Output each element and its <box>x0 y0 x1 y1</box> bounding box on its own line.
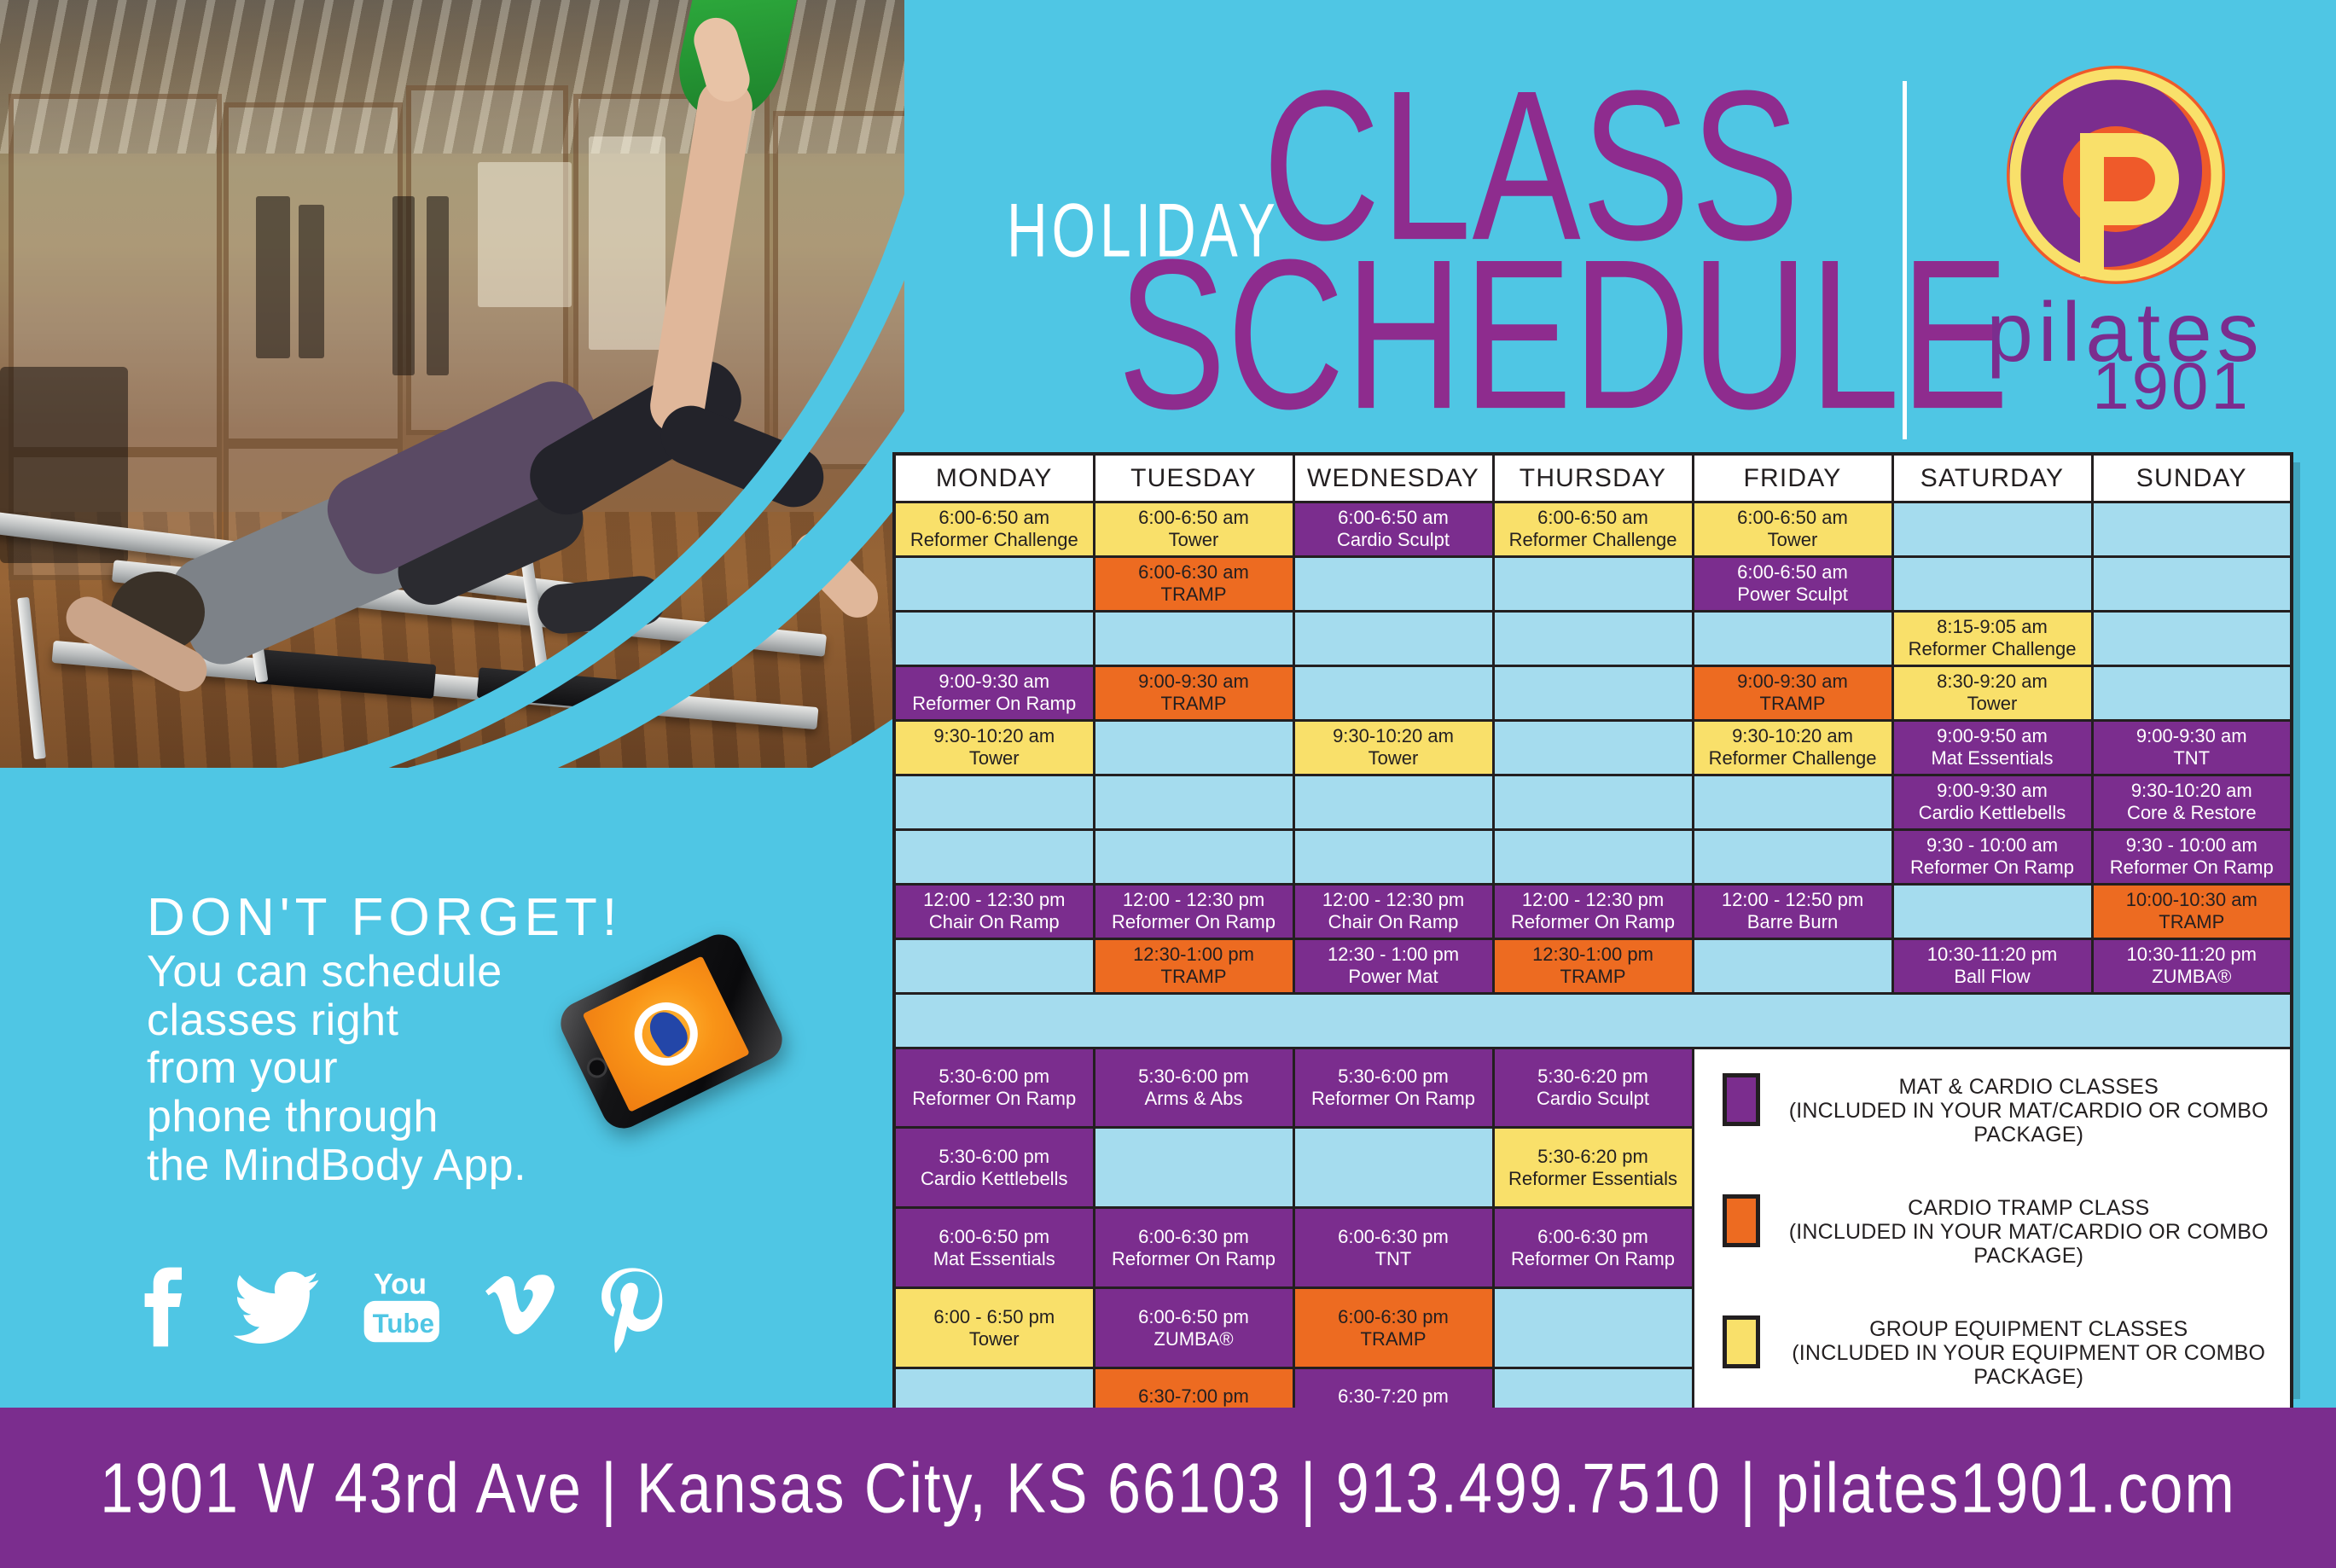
schedule-cell-empty <box>1493 611 1693 665</box>
schedule-cell-empty <box>1892 556 2092 611</box>
class-time: 5:30-6:00 pm <box>898 1066 1090 1088</box>
schedule-cell-empty <box>1493 665 1693 720</box>
class-name: Tower <box>898 1328 1090 1350</box>
schedule-cell-empty <box>894 611 1094 665</box>
legend-swatch-purple <box>1723 1073 1760 1126</box>
class-time: 9:00-9:30 am <box>1098 671 1290 693</box>
class-time: 12:30 - 1:00 pm <box>1298 944 1490 966</box>
class-name: Mat Essentials <box>1897 747 2089 769</box>
schedule-cell-class[interactable]: 9:30-10:20 amTower <box>894 720 1094 775</box>
legend-subtitle: (INCLUDED IN YOUR MAT/CARDIO OR COMBO PA… <box>1779 1099 2280 1147</box>
schedule-cell-empty <box>1293 775 1493 829</box>
class-name: Tower <box>1298 747 1490 769</box>
day-header-monday: MONDAY <box>894 454 1094 502</box>
twitter-icon[interactable] <box>234 1259 320 1355</box>
class-name: Reformer Challenge <box>1897 638 2089 660</box>
schedule-cell-class[interactable]: 6:00-6:50 amPower Sculpt <box>1693 556 1892 611</box>
class-name: Reformer On Ramp <box>2096 857 2288 879</box>
brand-logo: pilates 1901 <box>1945 38 2304 439</box>
schedule-row: 9:00-9:30 amCardio Kettlebells9:30-10:20… <box>894 775 2292 829</box>
class-time: 9:30-10:20 am <box>2096 780 2288 802</box>
schedule-cell-class[interactable]: 6:00-6:30 amTRAMP <box>1094 556 1293 611</box>
schedule-cell-class[interactable]: 6:00 - 6:50 pmTower <box>894 1288 1094 1368</box>
page-title-line2: SCHEDULE <box>1118 237 2010 433</box>
schedule-row: 5:30-6:00 pmReformer On Ramp5:30-6:00 pm… <box>894 1048 2292 1128</box>
legend-title: MAT & CARDIO CLASSES <box>1779 1075 2280 1099</box>
class-time: 6:00-6:50 pm <box>898 1226 1090 1248</box>
class-time: 6:00-6:50 am <box>1697 507 1889 529</box>
schedule-cell-class[interactable]: 5:30-6:20 pmReformer Essentials <box>1493 1128 1693 1208</box>
class-name: Reformer On Ramp <box>1098 1248 1290 1270</box>
class-time: 9:00-9:50 am <box>1897 725 2089 747</box>
class-name: TNT <box>2096 747 2288 769</box>
schedule-spacer-row <box>894 993 2292 1048</box>
legend-title: GROUP EQUIPMENT CLASSES <box>1779 1317 2280 1341</box>
schedule-cell-empty <box>1693 938 1892 993</box>
schedule-cell-class[interactable]: 6:00-6:30 pmTRAMP <box>1293 1288 1493 1368</box>
class-time: 6:00-6:30 am <box>1098 561 1290 584</box>
class-name: Tower <box>1098 529 1290 551</box>
class-time: 12:00 - 12:50 pm <box>1697 889 1889 911</box>
pilates-p-logo-icon <box>1979 51 2252 299</box>
class-time: 6:00-6:30 pm <box>1098 1226 1290 1248</box>
schedule-cell-class[interactable]: 9:00-9:30 amReformer On Ramp <box>894 665 1094 720</box>
day-header-tuesday: TUESDAY <box>1094 454 1293 502</box>
class-name: Barre Burn <box>1697 911 1889 933</box>
schedule-cell-class[interactable]: 12:00 - 12:30 pmReformer On Ramp <box>1493 884 1693 938</box>
class-time: 12:00 - 12:30 pm <box>1497 889 1689 911</box>
svg-text:You: You <box>374 1268 427 1300</box>
class-name: Cardio Kettlebells <box>898 1168 1090 1190</box>
schedule-row: 9:00-9:30 amReformer On Ramp9:00-9:30 am… <box>894 665 2292 720</box>
legend-subtitle: (INCLUDED IN YOUR EQUIPMENT OR COMBO PAC… <box>1779 1341 2280 1389</box>
schedule-row: 9:30-10:20 amTower9:30-10:20 amTower9:30… <box>894 720 2292 775</box>
schedule-cell-class[interactable]: 12:00 - 12:30 pmChair On Ramp <box>894 884 1094 938</box>
class-time: 6:30-7:00 pm <box>1098 1385 1290 1408</box>
schedule-cell-empty <box>1293 611 1493 665</box>
schedule-cell-class[interactable]: 6:00-6:50 amTower <box>1693 502 1892 556</box>
class-name: Chair On Ramp <box>1298 911 1490 933</box>
schedule-spacer <box>894 993 2292 1048</box>
day-header-friday: FRIDAY <box>1693 454 1892 502</box>
legend-title: CARDIO TRAMP CLASS <box>1779 1196 2280 1220</box>
class-name: ZUMBA® <box>2096 966 2288 988</box>
legend-item: MAT & CARDIO CLASSES(INCLUDED IN YOUR MA… <box>1723 1073 2280 1147</box>
schedule-cell-class[interactable]: 9:00-9:30 amCardio Kettlebells <box>1892 775 2092 829</box>
schedule-cell-class[interactable]: 5:30-6:20 pmCardio Sculpt <box>1493 1048 1693 1128</box>
schedule-cell-empty <box>2092 665 2292 720</box>
schedule-cell-empty <box>2092 502 2292 556</box>
class-time: 6:00-6:50 am <box>1697 561 1889 584</box>
schedule-cell-empty <box>1493 829 1693 884</box>
schedule-cell-empty <box>1094 1128 1293 1208</box>
schedule-row: 12:30-1:00 pmTRAMP12:30 - 1:00 pmPower M… <box>894 938 2292 993</box>
class-time: 6:00-6:50 pm <box>1098 1306 1290 1328</box>
class-time: 9:30-10:20 am <box>1697 725 1889 747</box>
schedule-cell-empty <box>1493 775 1693 829</box>
schedule-cell-empty <box>894 775 1094 829</box>
schedule-cell-class[interactable]: 9:30 - 10:00 amReformer On Ramp <box>1892 829 2092 884</box>
social-links: You Tube <box>135 1239 664 1375</box>
class-time: 6:00-6:50 am <box>1497 507 1689 529</box>
class-name: Power Mat <box>1298 966 1490 988</box>
class-name: Tower <box>1897 693 2089 715</box>
class-name: Ball Flow <box>1897 966 2089 988</box>
schedule-cell-class[interactable]: 10:00-10:30 amTRAMP <box>2092 884 2292 938</box>
schedule-cell-class[interactable]: 12:30-1:00 pmTRAMP <box>1094 938 1293 993</box>
schedule-cell-class[interactable]: 12:00 - 12:30 pmChair On Ramp <box>1293 884 1493 938</box>
class-name: Reformer Challenge <box>1497 529 1689 551</box>
youtube-icon[interactable]: You Tube <box>359 1257 445 1357</box>
schedule-table: MONDAY TUESDAY WEDNESDAY THURSDAY FRIDAY… <box>892 452 2293 1450</box>
class-name: ZUMBA® <box>1098 1328 1290 1350</box>
schedule-cell-class[interactable]: 9:30-10:20 amTower <box>1293 720 1493 775</box>
class-name: Power Sculpt <box>1697 584 1889 606</box>
class-time: 5:30-6:00 pm <box>1098 1066 1290 1088</box>
schedule-cell-empty <box>1094 829 1293 884</box>
class-time: 9:00-9:30 am <box>2096 725 2288 747</box>
logo-year: 1901 <box>2048 352 2295 419</box>
class-name: TRAMP <box>1697 693 1889 715</box>
class-time: 12:30-1:00 pm <box>1098 944 1290 966</box>
svg-text:Tube: Tube <box>372 1309 433 1339</box>
schedule-cell-empty <box>1293 1128 1493 1208</box>
class-name: Reformer On Ramp <box>1298 1088 1490 1110</box>
class-time: 6:00-6:50 am <box>1298 507 1490 529</box>
schedule-cell-empty <box>1493 1288 1693 1368</box>
schedule-cell-empty <box>1293 829 1493 884</box>
class-time: 9:30-10:20 am <box>898 725 1090 747</box>
class-name: Reformer On Ramp <box>1497 911 1689 933</box>
class-name: Reformer On Ramp <box>898 693 1090 715</box>
schedule-cell-empty <box>1693 829 1892 884</box>
schedule-cell-empty <box>1094 775 1293 829</box>
legend-container: MAT & CARDIO CLASSES(INCLUDED IN YOUR MA… <box>1693 1048 2292 1449</box>
class-name: Tower <box>898 747 1090 769</box>
footer-contact-text: 1901 W 43rd Ave | Kansas City, KS 66103 … <box>100 1448 2236 1528</box>
class-time: 5:30-6:20 pm <box>1497 1066 1689 1088</box>
schedule-cell-empty <box>894 556 1094 611</box>
class-time: 10:00-10:30 am <box>2096 889 2288 911</box>
schedule-cell-class[interactable]: 9:00-9:30 amTNT <box>2092 720 2292 775</box>
schedule-cell-class[interactable]: 10:30-11:20 pmBall Flow <box>1892 938 2092 993</box>
class-time: 5:30-6:00 pm <box>898 1146 1090 1168</box>
schedule-cell-class[interactable]: 9:30-10:20 amCore & Restore <box>2092 775 2292 829</box>
schedule-cell-empty <box>1094 611 1293 665</box>
schedule-cell-empty <box>894 829 1094 884</box>
schedule-cell-empty <box>1293 665 1493 720</box>
schedule-cell-empty <box>894 938 1094 993</box>
class-name: Reformer Challenge <box>1697 747 1889 769</box>
legend-item: GROUP EQUIPMENT CLASSES(INCLUDED IN YOUR… <box>1723 1315 2280 1389</box>
schedule-cell-empty <box>1693 775 1892 829</box>
class-time: 6:00-6:30 pm <box>1497 1226 1689 1248</box>
class-time: 9:30-10:20 am <box>1298 725 1490 747</box>
schedule-cell-class[interactable]: 9:00-9:50 amMat Essentials <box>1892 720 2092 775</box>
class-time: 5:30-6:00 pm <box>1298 1066 1490 1088</box>
schedule-cell-class[interactable]: 6:00-6:50 amTower <box>1094 502 1293 556</box>
schedule-cell-empty <box>1293 556 1493 611</box>
schedule-row: 12:00 - 12:30 pmChair On Ramp12:00 - 12:… <box>894 884 2292 938</box>
class-name: TRAMP <box>1497 966 1689 988</box>
schedule-cell-empty <box>1493 556 1693 611</box>
schedule-cell-empty <box>1693 611 1892 665</box>
class-time: 5:30-6:20 pm <box>1497 1146 1689 1168</box>
class-name: Cardio Kettlebells <box>1897 802 2089 824</box>
day-header-sunday: SUNDAY <box>2092 454 2292 502</box>
class-name: TRAMP <box>2096 911 2288 933</box>
legend-swatch-yellow <box>1723 1315 1760 1368</box>
class-time: 9:00-9:30 am <box>1697 671 1889 693</box>
class-time: 10:30-11:20 pm <box>2096 944 2288 966</box>
legend-subtitle: (INCLUDED IN YOUR MAT/CARDIO OR COMBO PA… <box>1779 1220 2280 1268</box>
class-name: TRAMP <box>1098 966 1290 988</box>
schedule-cell-class[interactable]: 6:00-6:50 amCardio Sculpt <box>1293 502 1493 556</box>
class-time: 8:15-9:05 am <box>1897 616 2089 638</box>
schedule-cell-class[interactable]: 10:30-11:20 pmZUMBA® <box>2092 938 2292 993</box>
schedule-cell-class[interactable]: 5:30-6:00 pmReformer On Ramp <box>894 1048 1094 1128</box>
class-name: Reformer Challenge <box>898 529 1090 551</box>
promo-headline: DON'T FORGET! <box>147 891 761 944</box>
class-name: Arms & Abs <box>1098 1088 1290 1110</box>
class-name: Reformer On Ramp <box>898 1088 1090 1110</box>
schedule-cell-class[interactable]: 12:30 - 1:00 pmPower Mat <box>1293 938 1493 993</box>
schedule-cell-class[interactable]: 12:30-1:00 pmTRAMP <box>1493 938 1693 993</box>
schedule-cell-empty <box>1892 884 2092 938</box>
class-time: 12:00 - 12:30 pm <box>898 889 1090 911</box>
promo-block: DON'T FORGET! You can schedule classes r… <box>147 891 761 1189</box>
class-time: 6:30-7:20 pm <box>1298 1385 1490 1408</box>
schedule-cell-class[interactable]: 12:00 - 12:30 pmReformer On Ramp <box>1094 884 1293 938</box>
schedule-cell-class[interactable]: 5:30-6:00 pmCardio Kettlebells <box>894 1128 1094 1208</box>
facebook-icon[interactable] <box>135 1257 195 1356</box>
schedule-cell-class[interactable]: 8:15-9:05 amReformer Challenge <box>1892 611 2092 665</box>
class-name: Mat Essentials <box>898 1248 1090 1270</box>
pinterest-icon[interactable] <box>596 1257 664 1356</box>
class-time: 6:00-6:30 pm <box>1298 1226 1490 1248</box>
schedule-cell-class[interactable]: 9:30-10:20 amReformer Challenge <box>1693 720 1892 775</box>
class-name: Chair On Ramp <box>898 911 1090 933</box>
day-header-wednesday: WEDNESDAY <box>1293 454 1493 502</box>
class-name: TRAMP <box>1098 584 1290 606</box>
class-name: TRAMP <box>1298 1328 1490 1350</box>
schedule-cell-class[interactable]: 9:00-9:30 amTRAMP <box>1693 665 1892 720</box>
schedule-cell-class[interactable]: 6:00-6:50 pmMat Essentials <box>894 1208 1094 1288</box>
class-name: Reformer On Ramp <box>1098 911 1290 933</box>
class-time: 12:00 - 12:30 pm <box>1298 889 1490 911</box>
schedule-cell-empty <box>2092 556 2292 611</box>
schedule-cell-class[interactable]: 5:30-6:00 pmReformer On Ramp <box>1293 1048 1493 1128</box>
schedule-header-row: MONDAY TUESDAY WEDNESDAY THURSDAY FRIDAY… <box>894 454 2292 502</box>
photo-person-back <box>196 230 828 674</box>
class-time: 6:00-6:50 am <box>898 507 1090 529</box>
schedule-cell-class[interactable]: 8:30-9:20 amTower <box>1892 665 2092 720</box>
schedule-cell-class[interactable]: 6:00-6:50 amReformer Challenge <box>894 502 1094 556</box>
class-time: 8:30-9:20 am <box>1897 671 2089 693</box>
class-schedule: MONDAY TUESDAY WEDNESDAY THURSDAY FRIDAY… <box>892 452 2292 1391</box>
class-time: 9:30 - 10:00 am <box>2096 834 2288 857</box>
class-time: 6:00-6:30 pm <box>1298 1306 1490 1328</box>
schedule-body: 6:00-6:50 amReformer Challenge6:00-6:50 … <box>894 502 2292 1449</box>
header-divider <box>1903 81 1907 439</box>
class-name: Reformer Essentials <box>1497 1168 1689 1190</box>
class-name: Core & Restore <box>2096 802 2288 824</box>
schedule-cell-empty <box>1892 502 2092 556</box>
promo-body-line-5: the MindBody App. <box>147 1141 761 1190</box>
class-time: 9:30 - 10:00 am <box>1897 834 2089 857</box>
class-name: TNT <box>1298 1248 1490 1270</box>
schedule-row: 8:15-9:05 amReformer Challenge <box>894 611 2292 665</box>
schedule-cell-class[interactable]: 6:00-6:30 pmTNT <box>1293 1208 1493 1288</box>
schedule-cell-empty <box>1493 720 1693 775</box>
class-time: 10:30-11:20 pm <box>1897 944 2089 966</box>
schedule-cell-class[interactable]: 6:00-6:30 pmReformer On Ramp <box>1493 1208 1693 1288</box>
class-name: Tower <box>1697 529 1889 551</box>
class-name: Reformer On Ramp <box>1897 857 2089 879</box>
schedule-cell-empty <box>1094 720 1293 775</box>
schedule-cell-class[interactable]: 6:00-6:50 pmZUMBA® <box>1094 1288 1293 1368</box>
schedule-cell-class[interactable]: 5:30-6:00 pmArms & Abs <box>1094 1048 1293 1128</box>
schedule-row: 6:00-6:30 amTRAMP6:00-6:50 amPower Sculp… <box>894 556 2292 611</box>
class-name: Cardio Sculpt <box>1298 529 1490 551</box>
legend-swatch-orange <box>1723 1194 1760 1247</box>
class-time: 6:00-6:50 am <box>1098 507 1290 529</box>
schedule-row: 6:00-6:50 amReformer Challenge6:00-6:50 … <box>894 502 2292 556</box>
class-time: 12:30-1:00 pm <box>1497 944 1689 966</box>
schedule-cell-empty <box>2092 611 2292 665</box>
schedule-cell-class[interactable]: 9:30 - 10:00 amReformer On Ramp <box>2092 829 2292 884</box>
class-time: 9:00-9:30 am <box>898 671 1090 693</box>
class-name: TRAMP <box>1098 693 1290 715</box>
class-name: Reformer On Ramp <box>1497 1248 1689 1270</box>
class-time: 6:00 - 6:50 pm <box>898 1306 1090 1328</box>
studio-photo <box>0 0 904 768</box>
class-time: 12:00 - 12:30 pm <box>1098 889 1290 911</box>
schedule-cell-class[interactable]: 6:00-6:50 amReformer Challenge <box>1493 502 1693 556</box>
vimeo-icon[interactable] <box>483 1260 557 1354</box>
schedule-cell-class[interactable]: 6:00-6:30 pmReformer On Ramp <box>1094 1208 1293 1288</box>
legend-item: CARDIO TRAMP CLASS(INCLUDED IN YOUR MAT/… <box>1723 1194 2280 1268</box>
schedule-row: 9:30 - 10:00 amReformer On Ramp9:30 - 10… <box>894 829 2292 884</box>
schedule-cell-class[interactable]: 12:00 - 12:50 pmBarre Burn <box>1693 884 1892 938</box>
schedule-cell-class[interactable]: 9:00-9:30 amTRAMP <box>1094 665 1293 720</box>
day-header-saturday: SATURDAY <box>1892 454 2092 502</box>
day-header-thursday: THURSDAY <box>1493 454 1693 502</box>
class-time: 9:00-9:30 am <box>1897 780 2089 802</box>
class-name: Cardio Sculpt <box>1497 1088 1689 1110</box>
contact-footer: 1901 W 43rd Ave | Kansas City, KS 66103 … <box>0 1408 2336 1568</box>
